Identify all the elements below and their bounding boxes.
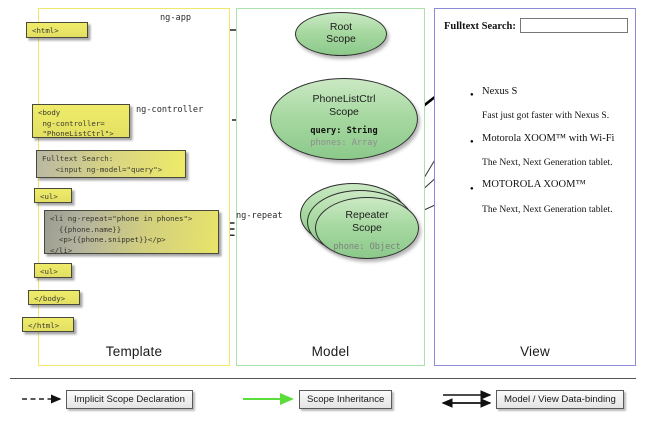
legend-divider [10,378,636,379]
code-box-html-close: </html> [22,317,74,332]
panel-label-view: View [434,344,636,359]
fulltext-search-input[interactable] [520,18,628,33]
view-item-desc-2: The Next, Next Generation tablet. [482,157,613,168]
legend-item-scope-inheritance: Scope Inheritance [299,390,392,409]
code-box-ul-open: <ul> [34,188,72,203]
scope-var-phones: phones: Array [271,138,417,150]
scope-phonelistctrl-title-2: Scope [271,106,417,119]
code-box-html-open: <html> [26,22,88,38]
code-box-ul-close: <ul> [34,263,72,278]
scope-phonelistctrl-vars: query: String phones: Array [271,126,417,149]
scope-phonelistctrl-title-1: PhoneListCtrl [271,93,417,106]
view-item-desc-3: The Next, Next Generation tablet. [482,204,613,215]
panel-template [38,8,230,366]
view-item-title-1: Nexus S [482,86,517,97]
code-box-body-open: <body ng-controller= "PhoneListCtrl"> [32,104,130,138]
view-bullet-1: ● [470,92,474,98]
view-bullet-2: ● [470,139,474,145]
edge-label-ng-repeat: ng-repeat [236,211,283,221]
panel-label-model: Model [236,344,425,359]
view-search-label: Fulltext Search: [444,21,516,32]
edge-label-ng-app: ng-app [160,13,191,23]
code-box-li-repeat: <li ng-repeat="phone in phones"> {{phone… [44,210,219,254]
view-item-title-3: MOTOROLA XOOM™ [482,179,586,190]
legend-arrow-databinding [443,395,490,403]
scope-phonelistctrl: PhoneListCtrl Scope query: String phones… [270,78,418,160]
scope-root: Root Scope [295,12,387,56]
angularjs-architecture-diagram: <html> <body ng-controller= "PhoneListCt… [0,0,645,425]
code-box-input: Fulltext Search: <input ng-model="query"… [36,150,186,178]
scope-var-query: query: String [271,126,417,138]
view-item-desc-1: Fast just got faster with Nexus S. [482,110,609,121]
code-box-body-close: </body> [28,290,80,305]
panel-label-template: Template [38,344,230,359]
legend-item-implicit-scope-declaration: Implicit Scope Declaration [66,390,193,409]
scope-var-phone: phone: Object [316,242,418,252]
legend-item-model-view-data-binding: Model / View Data-binding [496,390,624,409]
scope-repeater-title-2: Scope [316,222,418,235]
scope-root-title-2: Scope [296,33,386,45]
scope-root-title-1: Root [296,21,386,33]
edge-label-ng-controller: ng-controller [136,105,203,115]
view-item-title-2: Motorola XOOM™ with Wi-Fi [482,133,614,144]
scope-repeater: Repeater Scope phone: Object [315,197,419,259]
view-bullet-3: ● [470,186,474,192]
scope-repeater-title-1: Repeater [316,209,418,222]
